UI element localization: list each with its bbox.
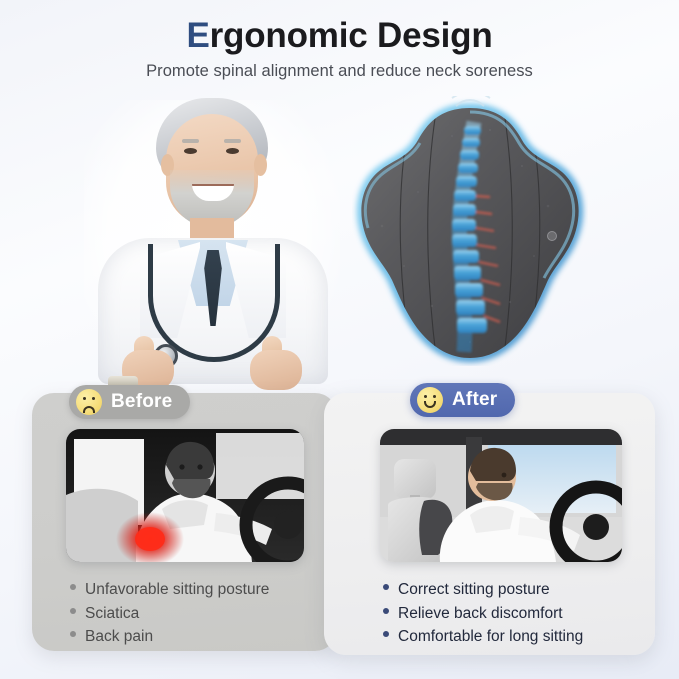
list-item: Unfavorable sitting posture [70,578,269,602]
before-bullet-list: Unfavorable sitting posture Sciatica Bac… [70,578,269,649]
bullet-text: Correct sitting posture [398,578,550,602]
bullet-dot-icon [70,584,76,590]
bullet-dot-icon [70,631,76,637]
before-badge: Before [69,385,190,419]
thumbs-up-icon-right [250,336,302,388]
hero-section [0,92,679,382]
doctor-brow-right [224,139,241,143]
before-badge-label: Before [111,391,172,413]
list-item: Correct sitting posture [383,578,583,602]
bullet-text: Sciatica [85,602,139,626]
infographic-page: Ergonomic Design Promote spinal alignmen… [0,0,679,679]
title-rest: rgonomic Design [210,16,493,55]
bullet-text: Unfavorable sitting posture [85,578,269,602]
bullet-dot-icon [383,584,389,590]
after-photo-svg [380,429,622,562]
after-photo [380,429,622,562]
page-subtitle: Promote spinal alignment and reduce neck… [0,62,679,81]
smiling-face-emoji [417,387,443,413]
before-photo [66,429,304,562]
title-accent-letter: E [186,16,209,55]
page-title: Ergonomic Design [0,16,679,56]
bullet-dot-icon [70,608,76,614]
after-bullet-list: Correct sitting posture Relieve back dis… [383,578,583,649]
bullet-text: Back pain [85,625,153,649]
list-item: Comfortable for long sitting [383,625,583,649]
list-item: Relieve back discomfort [383,602,583,626]
doctor-eye-left [184,148,197,154]
sad-face-emoji [76,389,102,415]
doctor-ear-right [254,154,267,176]
doctor-brow-left [182,139,199,143]
product-cushion-image [352,96,588,366]
doctor-eye-right [226,148,239,154]
after-badge-label: After [452,389,497,411]
bullet-dot-icon [383,608,389,614]
after-badge: After [410,383,515,417]
bullet-text: Relieve back discomfort [398,602,563,626]
bullet-dot-icon [383,631,389,637]
doctor-image [78,92,346,384]
bullet-text: Comfortable for long sitting [398,625,583,649]
before-photo-svg [66,429,304,562]
cushion-svg [352,96,588,366]
list-item: Sciatica [70,602,269,626]
cushion-side-button [548,232,557,241]
list-item: Back pain [70,625,269,649]
